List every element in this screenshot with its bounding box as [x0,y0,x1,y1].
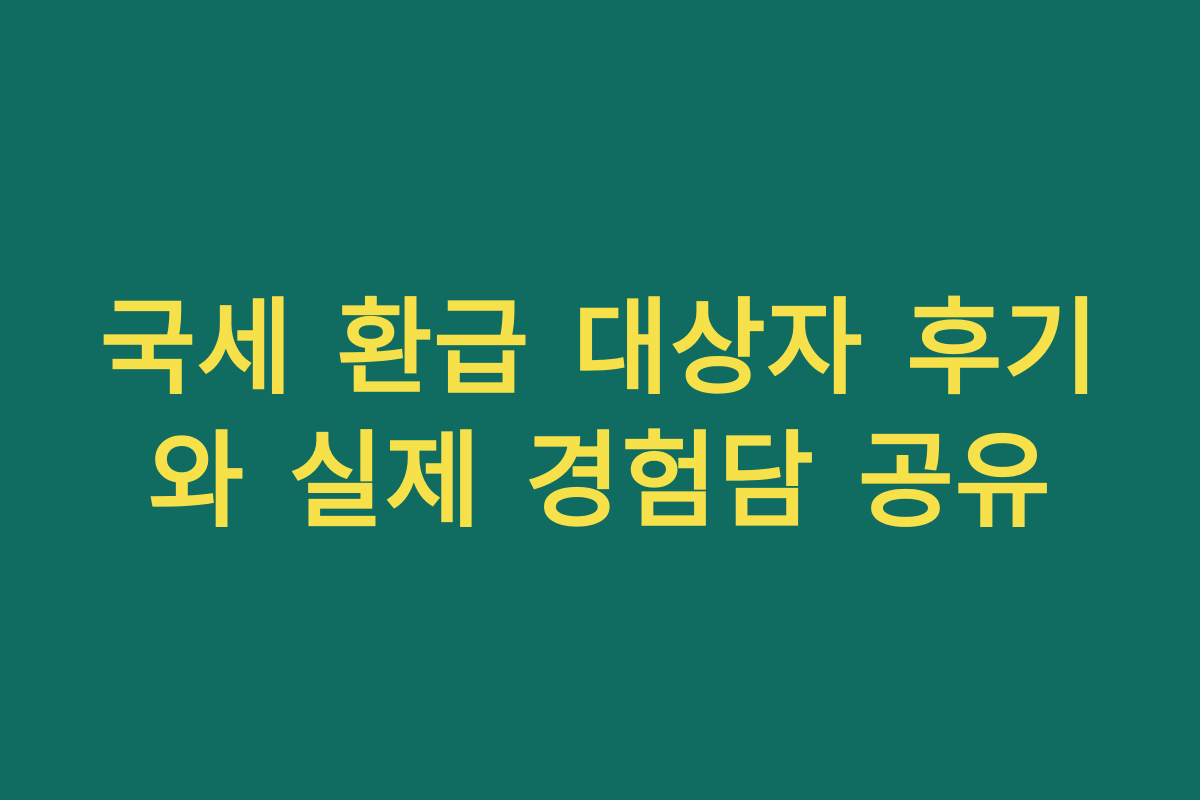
headline-line-1: 국세 환급 대상자 후기 [40,282,1160,415]
headline-block: 국세 환급 대상자 후기 와 실제 경험담 공유 [0,282,1200,548]
headline-line-2: 와 실제 경험담 공유 [40,415,1160,548]
banner-canvas: 국세 환급 대상자 후기 와 실제 경험담 공유 [0,0,1200,800]
